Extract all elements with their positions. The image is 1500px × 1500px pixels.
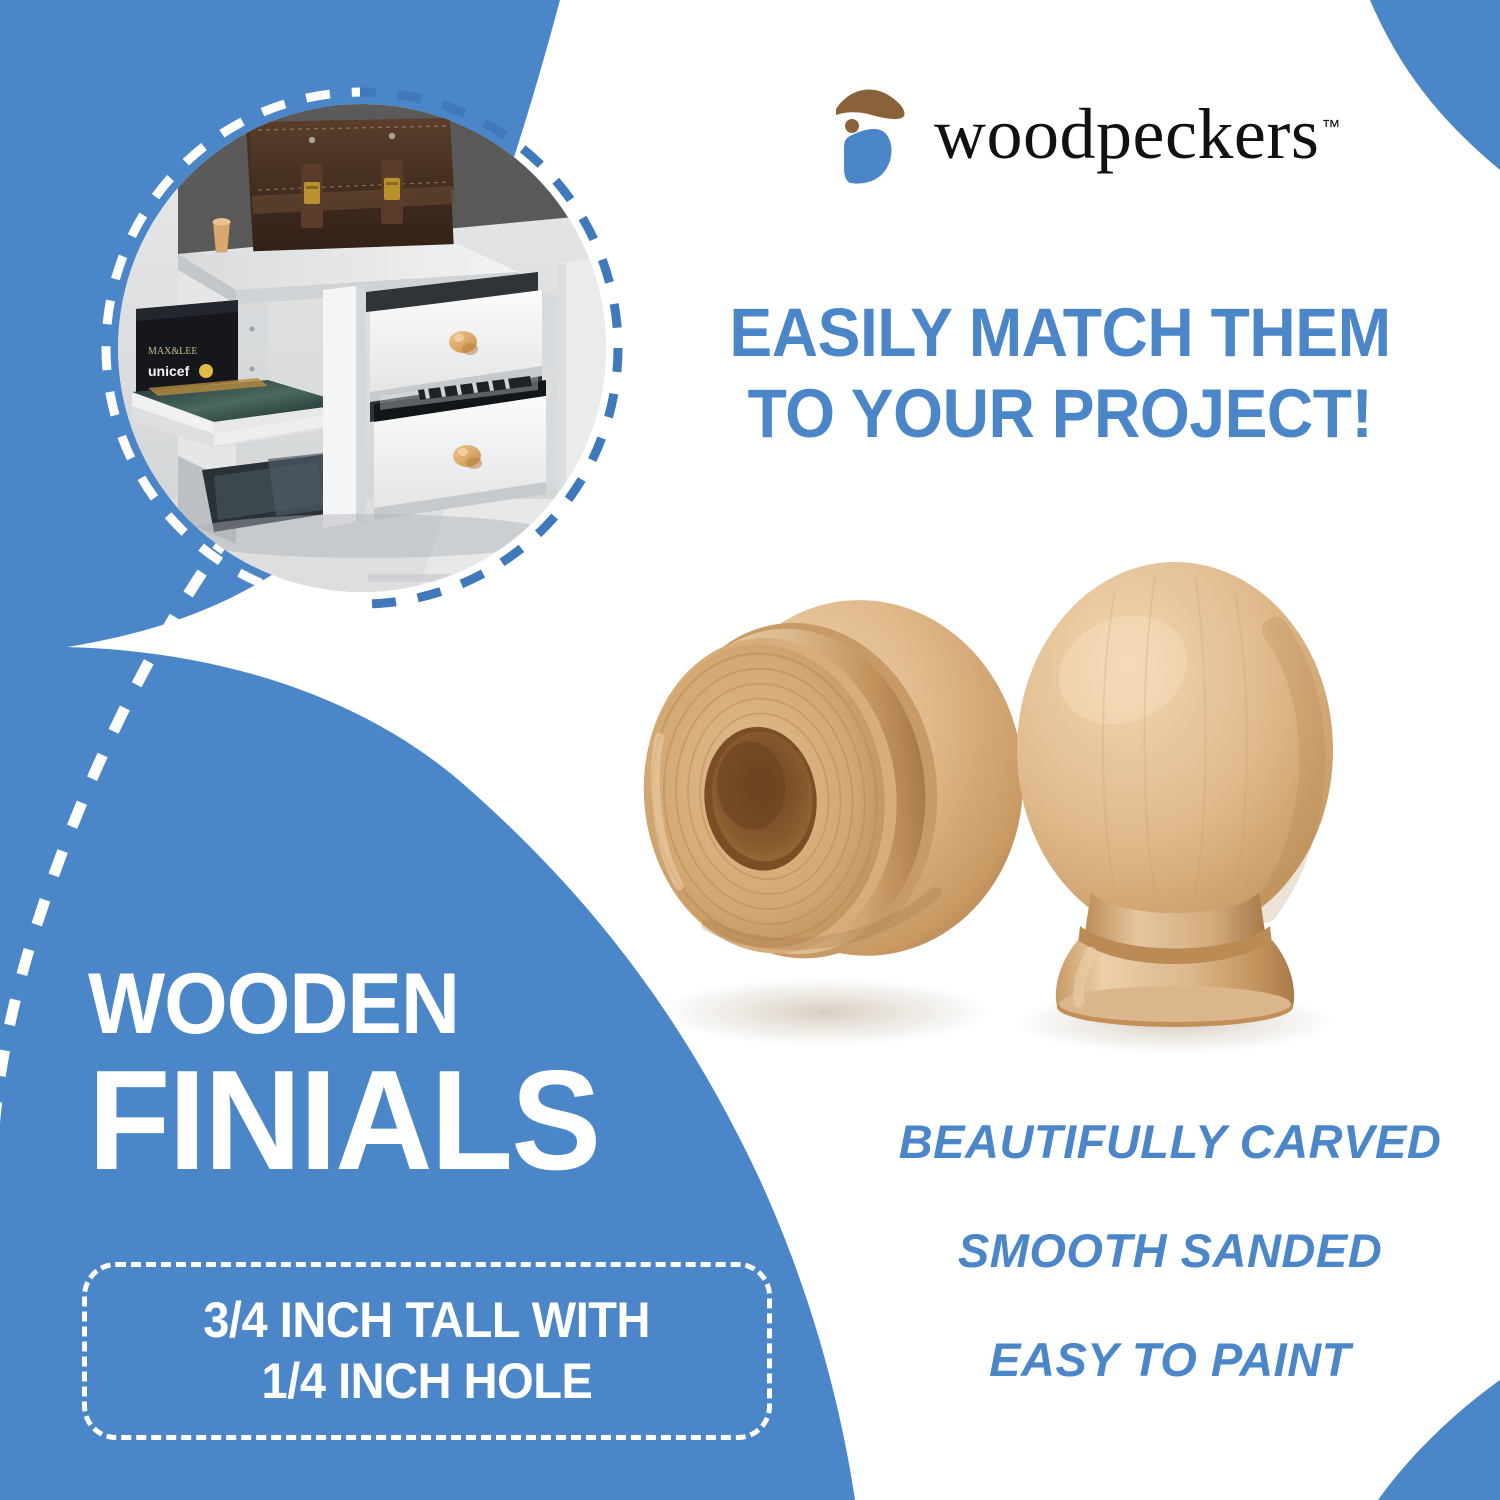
feature-item-0: BEAUTIFULLY CARVED: [860, 1118, 1480, 1165]
spec-badge-line-1: 3/4 INCH TALL WITH: [204, 1290, 651, 1351]
spec-badge-line-2: 1/4 INCH HOLE: [262, 1351, 593, 1412]
blue-shape-top-right: [1370, 0, 1500, 170]
finial-upright: [1017, 562, 1333, 1027]
product-title-line-1: WOODEN: [88, 962, 715, 1046]
spec-badge: 3/4 INCH TALL WITH 1/4 INCH HOLE: [82, 1262, 772, 1440]
finial-tipped: [625, 584, 1040, 978]
lifestyle-photo-circle: MAX&LEE unicef: [92, 78, 632, 618]
brand-name: woodpeckers: [934, 94, 1319, 174]
product-marketing-graphic: MAX&LEE unicef: [0, 0, 1500, 1500]
trademark-symbol: ™: [1321, 117, 1340, 138]
headline-line-2: TO YOUR PROJECT!: [688, 373, 1432, 454]
brand-logo: woodpeckers™: [832, 82, 1340, 186]
product-title: WOODEN FINIALS: [88, 962, 748, 1192]
feature-item-2: EASY TO PAINT: [860, 1336, 1480, 1383]
product-title-line-2: FINIALS: [88, 1050, 715, 1192]
headline: EASILY MATCH THEM TO YOUR PROJECT!: [688, 292, 1432, 455]
headline-line-1: EASILY MATCH THEM: [729, 294, 1390, 371]
brand-wordmark: woodpeckers™: [934, 98, 1340, 170]
photo-dashed-ring: [92, 78, 632, 618]
blue-shape-bottom-right: [1378, 1380, 1500, 1500]
feature-item-1: SMOOTH SANDED: [860, 1227, 1480, 1274]
woodpecker-bird-logo-icon: [832, 82, 912, 186]
feature-list: BEAUTIFULLY CARVED SMOOTH SANDED EASY TO…: [860, 1118, 1480, 1383]
